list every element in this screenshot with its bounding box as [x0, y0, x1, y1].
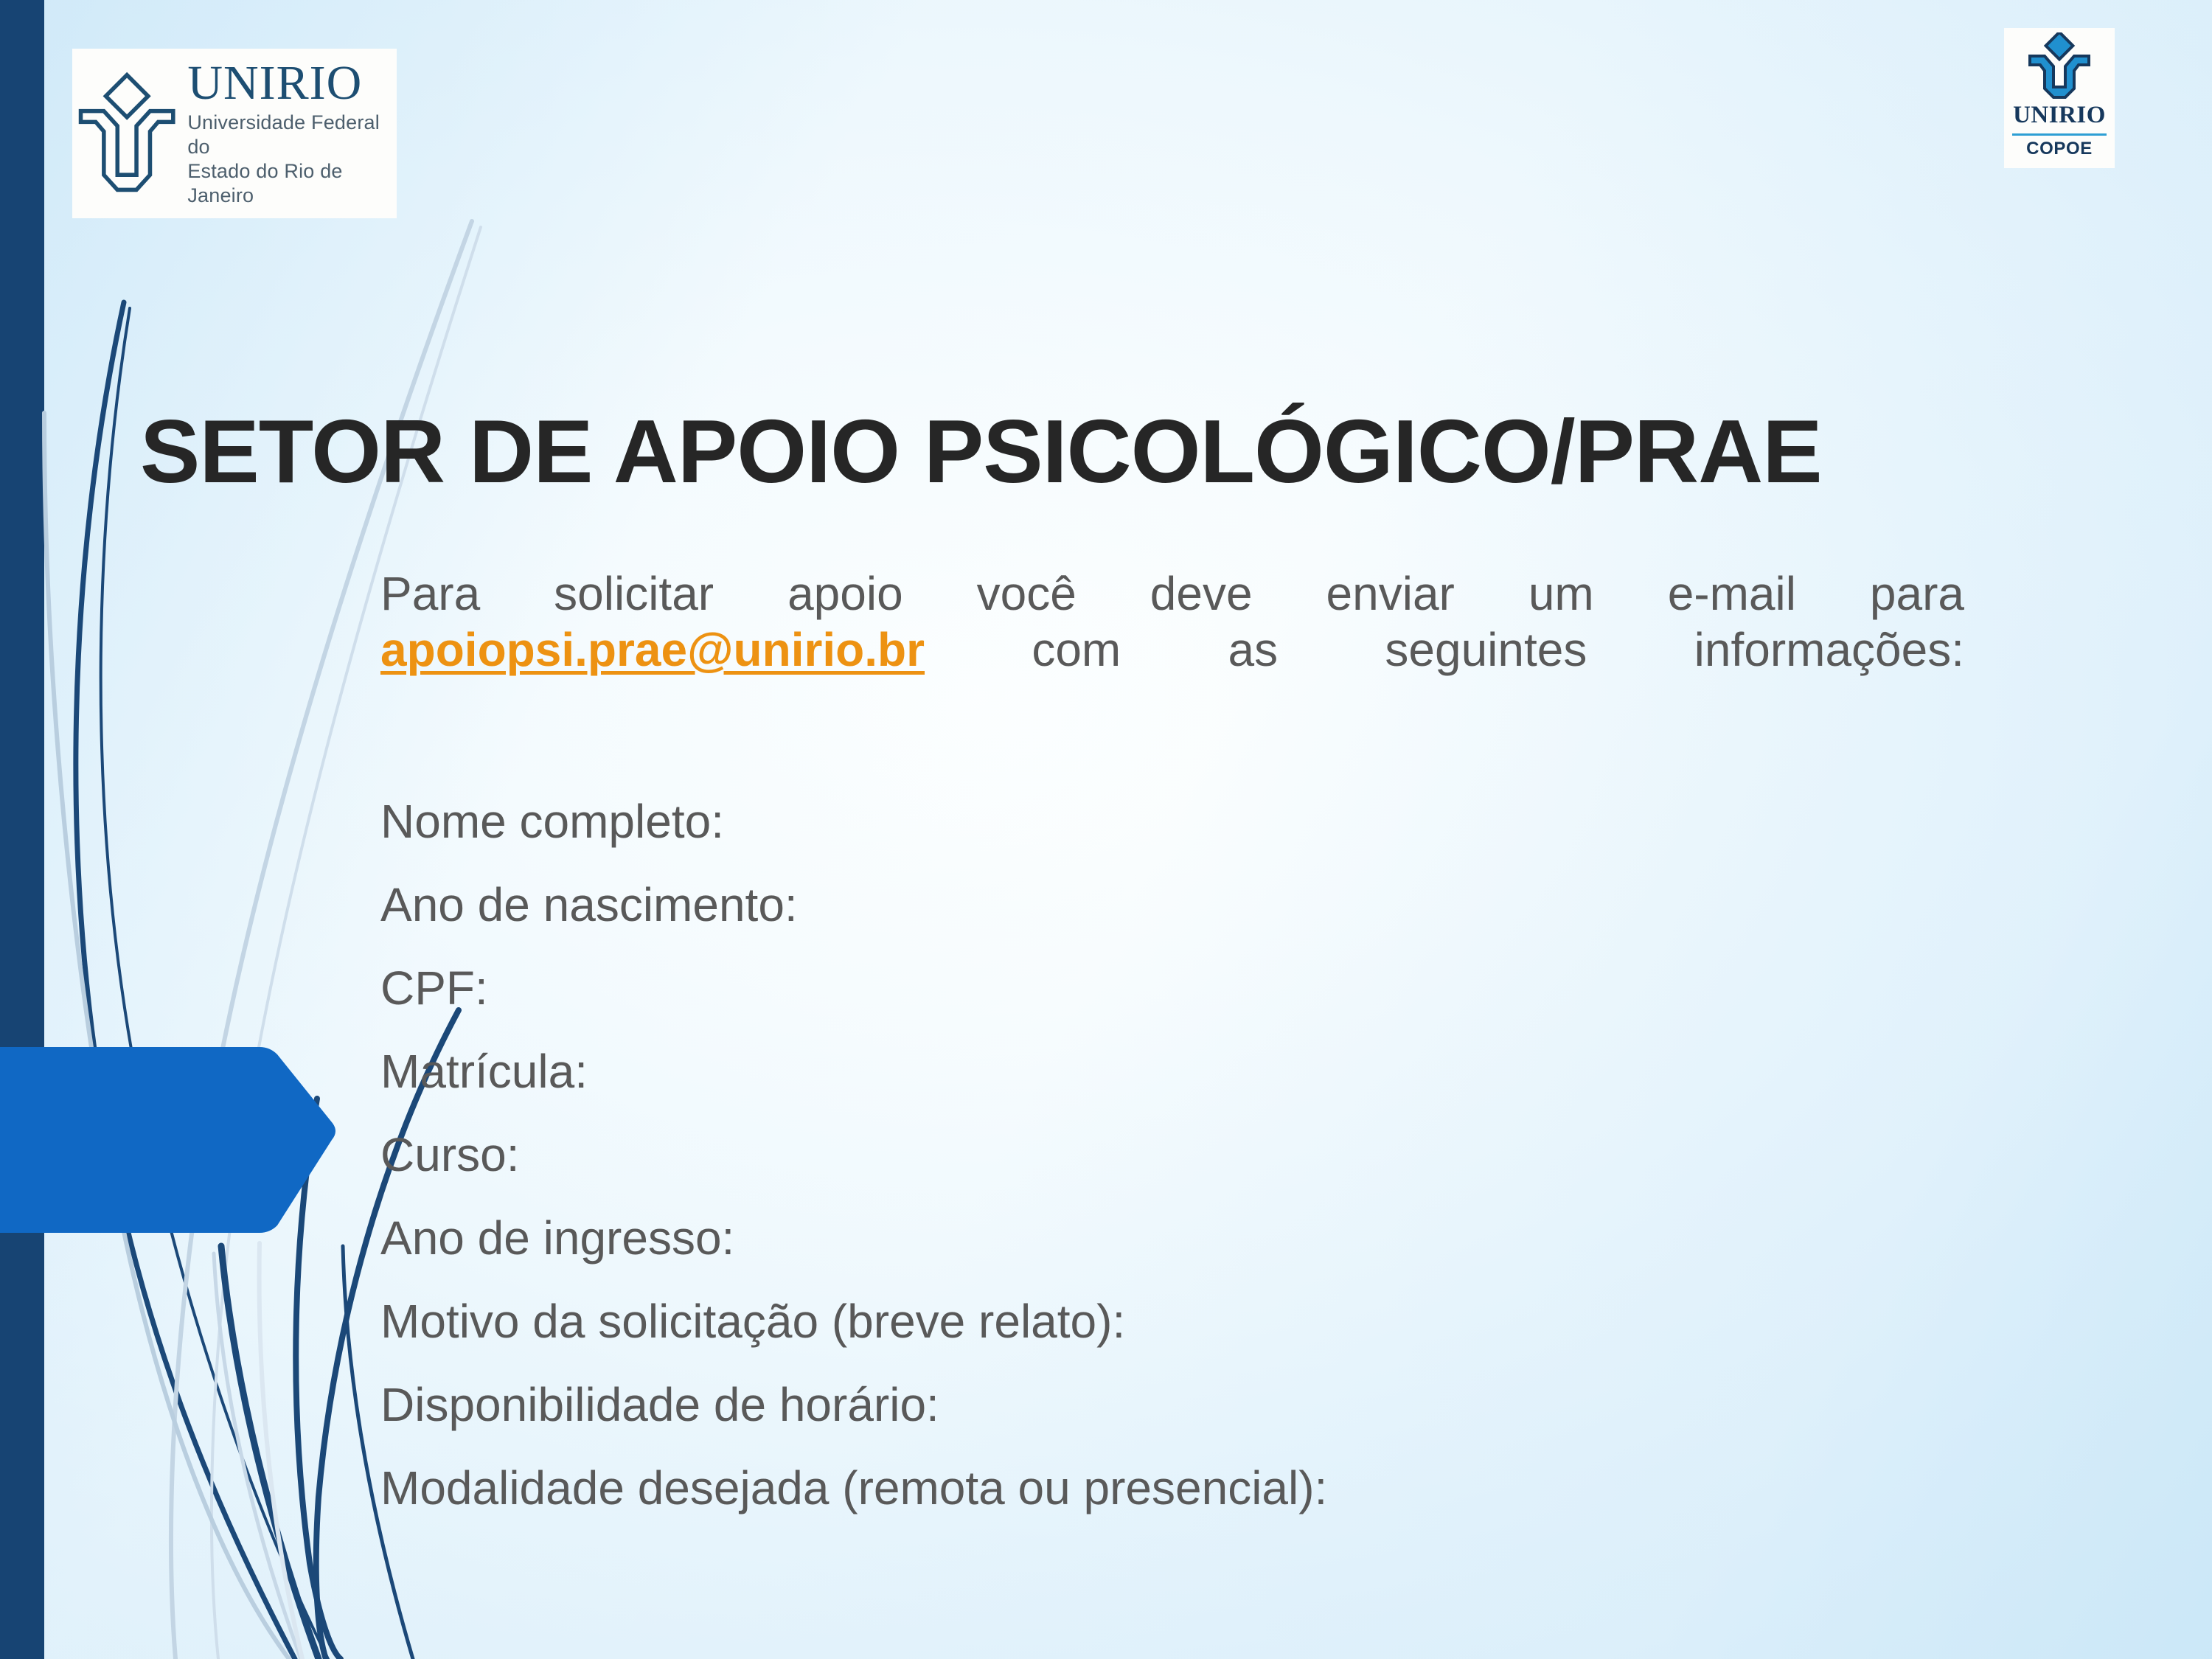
list-item: Matrícula:: [380, 1048, 2003, 1095]
unirio-logo-subtitle: Universidade Federal do Estado do Rio de…: [187, 111, 397, 208]
list-item: Motivo da solicitação (breve relato):: [380, 1298, 2003, 1345]
copoe-logo: UNIRIO COPOE: [2004, 28, 2115, 168]
list-item: Disponibilidade de horário:: [380, 1381, 2003, 1428]
list-item: CPF:: [380, 964, 2003, 1012]
list-item: Ano de nascimento:: [380, 881, 2003, 928]
intro-block: Para solicitar apoio você deve enviar um…: [380, 566, 1964, 734]
page-title: SETOR DE APOIO PSICOLÓGICO/PRAE: [140, 404, 2072, 498]
blue-arrow-shape: [0, 1041, 339, 1239]
list-item: Modalidade desejada (remota ou presencia…: [380, 1464, 2003, 1512]
copoe-divider: [2012, 133, 2107, 136]
copoe-logo-wordmark: UNIRIO: [2013, 102, 2106, 129]
list-item: Ano de ingresso:: [380, 1214, 2003, 1262]
copoe-emblem-icon: [2024, 32, 2095, 100]
unirio-logo-wordmark: UNIRIO: [187, 59, 362, 108]
slide-canvas: UNIRIO Universidade Federal do Estado do…: [0, 0, 2212, 1659]
requested-fields-list: Nome completo: Ano de nascimento: CPF: M…: [380, 798, 2003, 1548]
copoe-logo-label: COPOE: [2026, 139, 2093, 159]
list-item: Curso:: [380, 1131, 2003, 1178]
email-link[interactable]: apoiopsi.prae@unirio.br: [380, 623, 925, 676]
intro-text-after: com as seguintes informações:: [925, 623, 1964, 676]
intro-text-before: Para solicitar apoio você deve enviar um…: [380, 567, 1964, 620]
list-item: Nome completo:: [380, 798, 2003, 845]
unirio-emblem-icon: [77, 68, 177, 199]
intro-paragraph: Para solicitar apoio você deve enviar um…: [380, 566, 1964, 734]
unirio-logo: UNIRIO Universidade Federal do Estado do…: [72, 49, 397, 218]
